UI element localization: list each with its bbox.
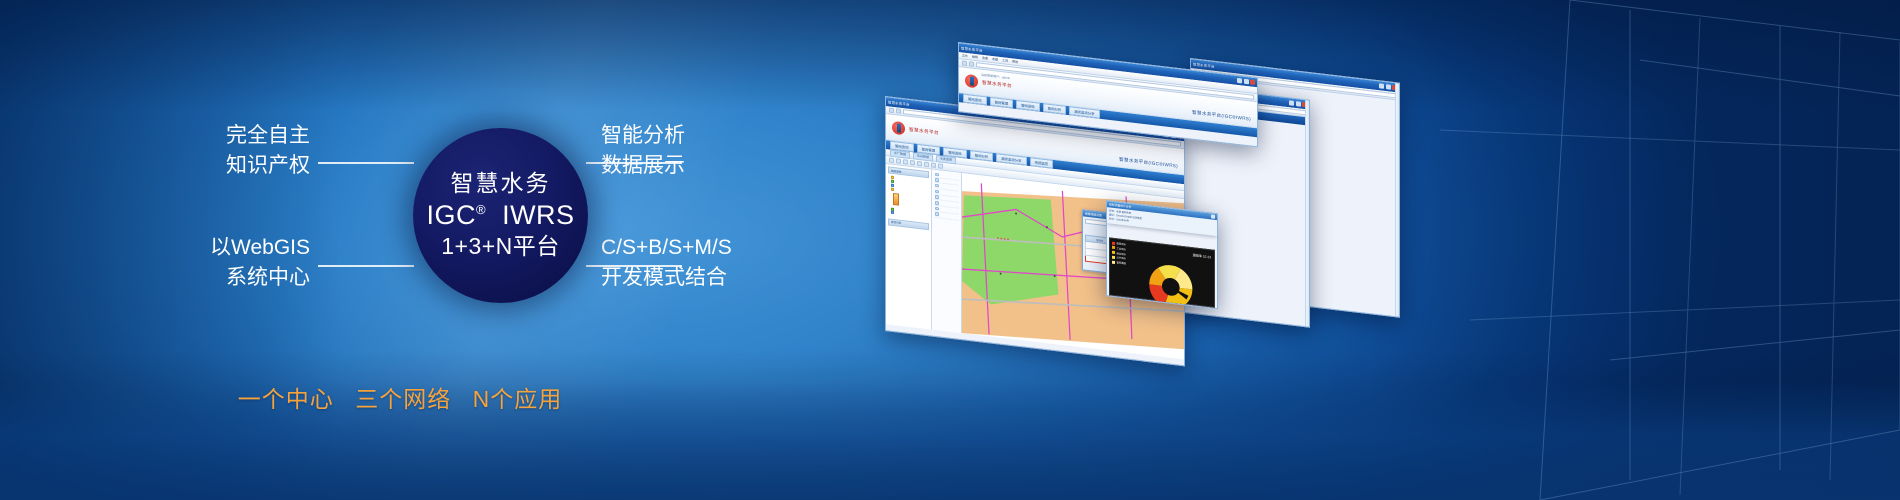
window-front-scrollbar[interactable] [1305,100,1309,326]
menu-fav[interactable]: 收藏 [992,57,998,62]
pie-chart-svg [1110,238,1214,307]
zoom-in-icon[interactable] [896,158,901,164]
window-back-logo-text: 智慧水务平台 [982,79,1012,89]
hub-subtitle: 1+3+N平台 [441,233,560,261]
menu-file[interactable]: 文件 [962,53,968,58]
tagline-part2: 三个网络 [355,386,451,412]
water-drop-logo-icon [892,121,905,136]
banner-stage: 完全自主 知识产权 以WebGIS 系统中心 智能分析 数据展示 C/S+B/S… [0,0,1900,500]
hub-english-title: IGC® IWRS [426,200,574,231]
close-icon [1250,79,1255,85]
water-drop-logo-icon [965,74,978,89]
dialog-close-icon[interactable] [1211,214,1215,218]
minimize-icon [1379,83,1384,89]
back-icon[interactable] [962,60,967,66]
minimize-icon [1237,78,1242,84]
menu-tools[interactable]: 工具 [1002,58,1008,63]
legend-swatch [893,193,899,206]
hub-circle: 智慧水务 IGC® IWRS 1+3+N平台 [413,128,588,303]
window-mid-logo-text: 智慧水务平台 [909,126,939,136]
forward-icon[interactable] [969,61,974,67]
layers-icon[interactable] [931,162,936,168]
label-top-left: 完全自主 知识产权 [120,121,310,181]
label-top-right: 智能分析 数据展示 [601,121,685,181]
measure-icon[interactable] [917,161,922,167]
menu-view[interactable]: 查看 [982,56,988,61]
tagline-part3: N个应用 [473,386,563,412]
label-top-left-line2: 知识产权 [120,151,310,181]
label-bottom-right-line2: 开发模式结合 [601,263,732,293]
hub-iwrs: IWRS [502,200,575,230]
label-top-left-line1: 完全自主 [120,121,310,151]
hub-igc: IGC [426,200,476,230]
tagline: 一个中心 三个网络 N个应用 [0,380,800,414]
label-bottom-left-line1: 以WebGIS [120,233,310,263]
pan-icon[interactable] [910,160,915,166]
connector-bottom-left [318,265,414,267]
concept-diagram: 完全自主 知识产权 以WebGIS 系统中心 智能分析 数据展示 C/S+B/S… [0,0,800,500]
menu-help[interactable]: 帮助 [1012,59,1018,64]
window-back-controls[interactable] [1237,78,1255,85]
screenshot-stack: 智慧水务平台 [790,0,1900,500]
maximize-icon [1244,79,1249,85]
pointer-icon[interactable] [889,157,894,163]
map-tools-panel[interactable] [932,170,962,334]
zoom-out-icon[interactable] [903,159,908,165]
back-icon[interactable] [889,107,894,113]
identify-icon[interactable] [938,163,943,169]
pie-chart-panel[interactable]: 居民用水 工业用水 商业用水 公共用水 管网漏损 漏损率 52.23 [1109,237,1215,308]
maximize-icon [1386,84,1391,90]
window-back-system-name: 智慧水务平台(IGC®IWRS) [1192,110,1251,123]
forward-icon[interactable] [896,108,901,114]
window-pie[interactable]: 管网流量统计分析 区域：全部 管网名称 管径：DN100-DN600 监测类型 … [1106,200,1218,309]
label-bottom-left-line2: 系统中心 [120,263,310,293]
connector-top-left [318,162,414,164]
registered-icon: ® [476,202,486,217]
minimize-icon [1289,100,1294,106]
tagline-part1: 一个中心 [238,386,334,412]
layer-tree-panel[interactable]: 图层管理 属性列表 [886,164,932,329]
print-icon[interactable] [924,162,929,168]
menu-edit[interactable]: 编辑 [972,55,978,60]
label-bottom-right: C/S+B/S+M/S 开发模式结合 [601,233,732,293]
label-top-right-line1: 智能分析 [601,121,685,151]
label-bottom-left: 以WebGIS 系统中心 [120,233,310,293]
label-bottom-right-line1: C/S+B/S+M/S [601,233,732,263]
hub-chinese-title: 智慧水务 [451,171,551,196]
label-top-right-line2: 数据展示 [601,151,685,181]
maximize-icon [1296,101,1301,107]
window-map-scrollbar[interactable] [1395,83,1399,316]
window-mid-system-name: 智慧水务平台(IGC®IWRS) [1119,157,1178,170]
